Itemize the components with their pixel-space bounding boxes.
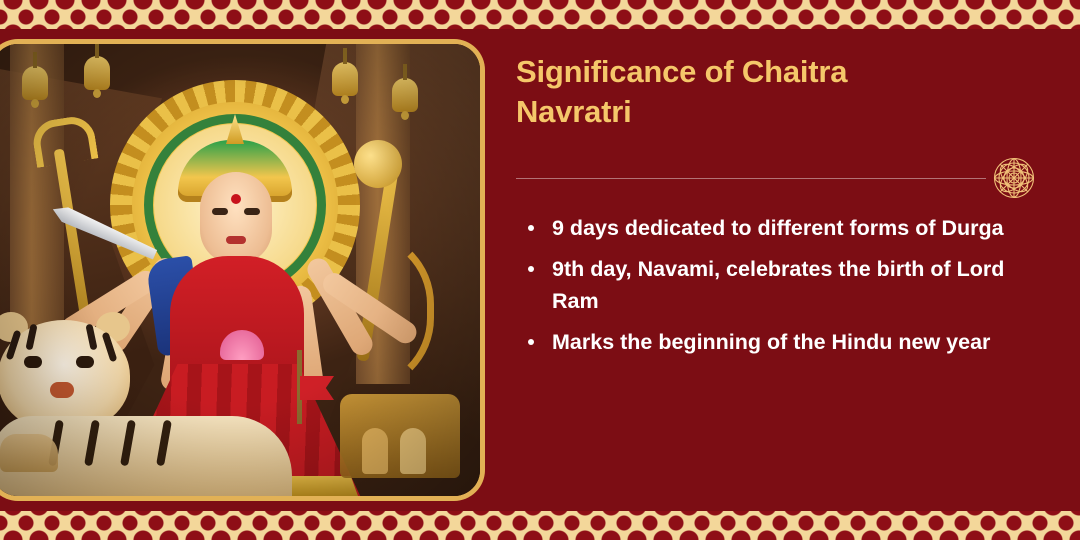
page-title: Significance of Chaitra Navratri: [516, 52, 936, 131]
mandala-icon: [992, 156, 1036, 200]
tiger-eye: [24, 356, 42, 368]
bindi: [231, 194, 241, 204]
bottom-decorative-border: [0, 506, 1080, 540]
slide-canvas: Significance of Chaitra Navratri 9 days: [0, 0, 1080, 540]
small-tiger-figure: [0, 434, 58, 472]
temple-bell-icon: [392, 78, 418, 112]
deity-lips: [226, 236, 246, 244]
top-decorative-border: [0, 0, 1080, 34]
tiger-eye: [76, 356, 94, 368]
devotee-figure: [400, 428, 426, 474]
top-border-pattern: [0, 0, 1080, 34]
deity-face: [200, 172, 272, 264]
deity-eye-right: [244, 208, 260, 215]
divider: [516, 156, 1036, 200]
temple-bell-icon: [84, 56, 110, 90]
list-item: Marks the beginning of the Hindu new yea…: [522, 326, 1022, 359]
deity-eye-left: [212, 208, 228, 215]
list-item: 9 days dedicated to different forms of D…: [522, 212, 1022, 245]
content-column: Significance of Chaitra Navratri 9 days: [516, 52, 1036, 492]
top-border-edge: [0, 29, 1080, 34]
bottom-border-scallops: [0, 506, 1080, 540]
bottom-border-pattern: [0, 506, 1080, 540]
bottom-border-edge: [0, 506, 1080, 511]
mace-head-icon: [354, 140, 402, 188]
tiger-nose: [50, 382, 74, 398]
list-item: 9th day, Navami, celebrates the birth of…: [522, 253, 1022, 318]
divider-line: [516, 178, 986, 179]
temple-bell-icon: [332, 62, 358, 96]
durga-image-panel: [0, 44, 480, 496]
temple-bell-icon: [22, 66, 48, 100]
devotee-figure: [362, 428, 388, 474]
bullet-list: 9 days dedicated to different forms of D…: [522, 212, 1022, 367]
